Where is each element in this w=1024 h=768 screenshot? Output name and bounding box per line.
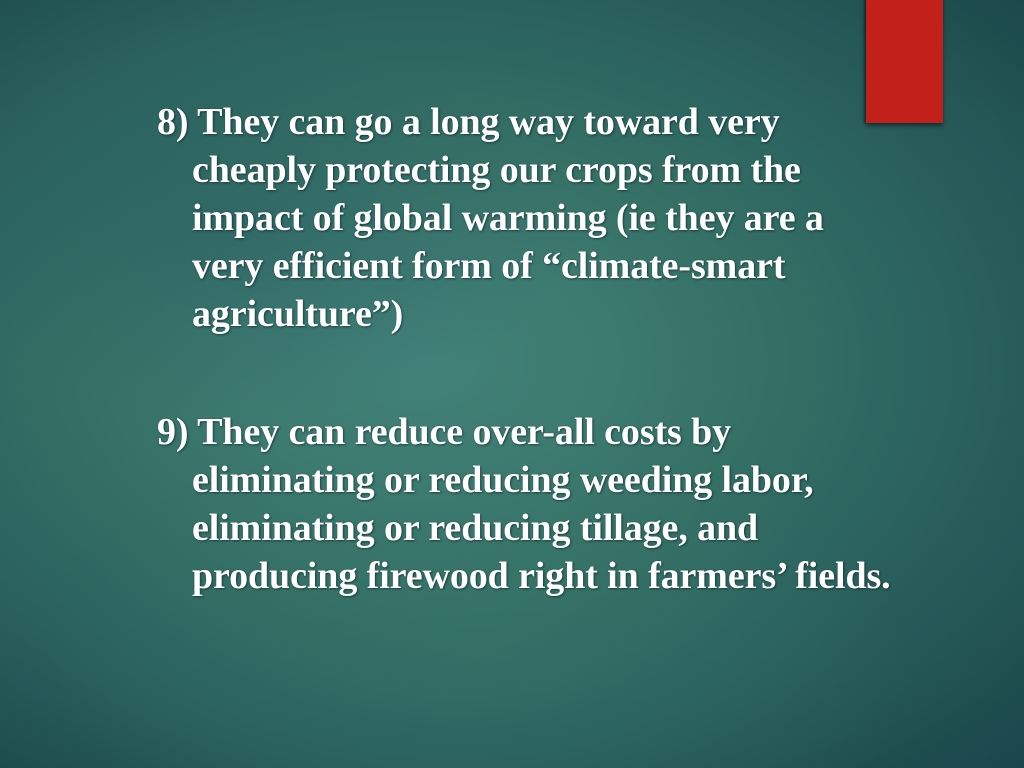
body-paragraph-9: 9) They can reduce over-all costs by eli… <box>157 408 892 600</box>
body-paragraph-8: 8) They can go a long way toward very ch… <box>157 98 892 338</box>
slide-content: 8) They can go a long way toward very ch… <box>0 0 1024 768</box>
slide-canvas: 8) They can go a long way toward very ch… <box>0 0 1024 768</box>
